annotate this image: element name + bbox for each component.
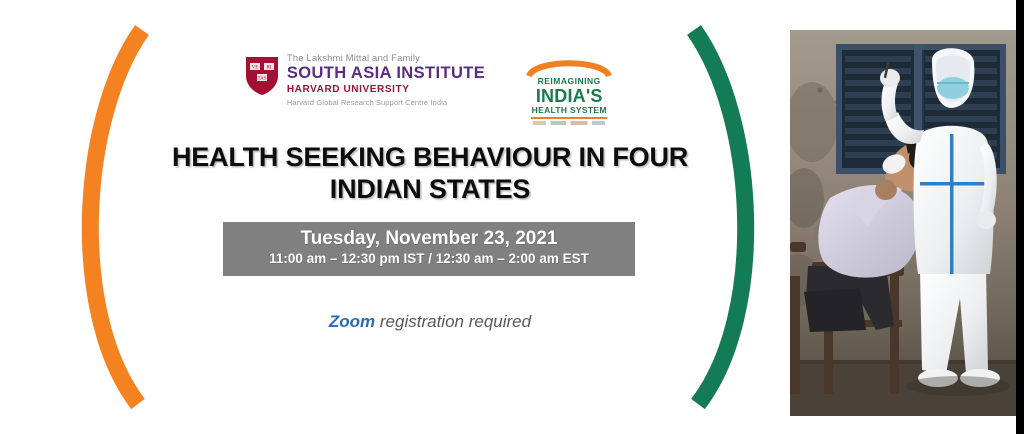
svg-text:RI: RI bbox=[266, 66, 271, 71]
registration-note: Zoom registration required bbox=[180, 312, 680, 332]
rihs-credit-line bbox=[533, 121, 605, 125]
sai-university-name: HARVARD UNIVERSITY bbox=[287, 85, 485, 96]
covid-swab-test-photo bbox=[790, 30, 1016, 416]
rihs-line-1: REIMAGINING bbox=[538, 77, 601, 86]
sai-title: SOUTH ASIA INSTITUTE bbox=[287, 65, 485, 82]
photo-illustration bbox=[790, 30, 1016, 416]
svg-text:TAS: TAS bbox=[257, 77, 266, 82]
orange-arc-decoration bbox=[50, 22, 160, 412]
registration-required-text: registration required bbox=[375, 312, 531, 331]
event-date: Tuesday, November 23, 2021 bbox=[223, 228, 635, 249]
zoom-platform-label[interactable]: Zoom bbox=[329, 312, 375, 331]
datetime-band: Tuesday, November 23, 2021 11:00 am – 12… bbox=[223, 222, 635, 276]
event-title: HEALTH SEEKING BEHAVIOUR IN FOUR INDIAN … bbox=[130, 142, 730, 206]
webinar-poster: VE RI TAS The Lakshmi Mittal and Family … bbox=[0, 0, 1024, 434]
rihs-line-3: HEALTH SYSTEM bbox=[532, 106, 607, 115]
harvard-veritas-shield-icon: VE RI TAS bbox=[245, 56, 279, 96]
logo-row: VE RI TAS The Lakshmi Mittal and Family … bbox=[150, 52, 710, 130]
sai-footnote: Harvard Global Research Support Centre I… bbox=[287, 99, 485, 107]
rihs-line-2: INDIA'S bbox=[536, 87, 603, 105]
right-edge-strip bbox=[1016, 0, 1024, 434]
harvard-south-asia-institute-logo: VE RI TAS The Lakshmi Mittal and Family … bbox=[245, 52, 485, 107]
svg-text:VE: VE bbox=[251, 66, 258, 71]
event-time: 11:00 am – 12:30 pm IST / 12:30 am – 2:0… bbox=[223, 251, 635, 268]
reimagining-indias-health-system-logo: REIMAGINING INDIA'S HEALTH SYSTEM bbox=[523, 52, 615, 125]
sai-pretitle: The Lakshmi Mittal and Family bbox=[287, 54, 485, 64]
orange-arc-icon bbox=[525, 55, 613, 77]
rihs-divider-rule bbox=[531, 117, 607, 119]
